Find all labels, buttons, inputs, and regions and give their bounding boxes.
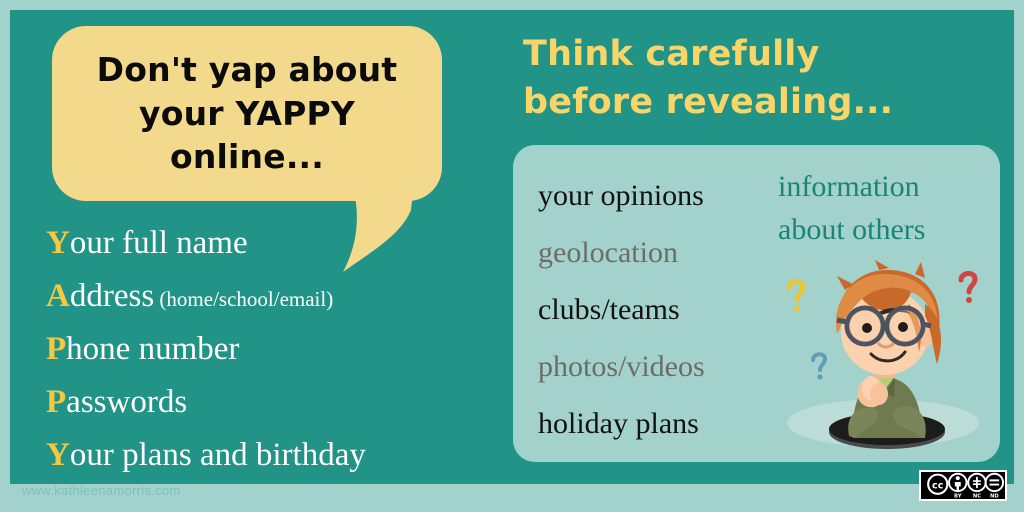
- acrostic-initial: Y: [46, 437, 70, 473]
- panel-side-note: information about others: [778, 165, 993, 251]
- right-heading-line-1: Think carefully: [523, 30, 993, 78]
- acrostic-initial: P: [46, 384, 66, 420]
- thinking-boy-in-hole-illustration: [775, 260, 990, 455]
- panel-side-note-line-2: about others: [778, 208, 993, 251]
- panel-list-item: holiday plans: [538, 395, 788, 452]
- acrostic-initial: A: [46, 278, 70, 314]
- acrostic-initial: P: [46, 331, 66, 367]
- panel-list-item: clubs/teams: [538, 281, 788, 338]
- acrostic-text: our plans and birthday: [70, 437, 366, 473]
- panel-list-item: your opinions: [538, 167, 788, 224]
- panel-item-list: your opinions geolocation clubs/teams ph…: [538, 167, 788, 452]
- speech-bubble-text: Don't yap about your YAPPY online...: [52, 26, 442, 201]
- think-before-revealing-panel: your opinions geolocation clubs/teams ph…: [513, 145, 1000, 462]
- svg-text:cc: cc: [932, 481, 944, 492]
- acrostic-initial: Y: [46, 225, 70, 261]
- acrostic-item: Passwords: [46, 377, 516, 430]
- yappy-acrostic-list: Your full name Address (home/school/emai…: [46, 218, 516, 483]
- acrostic-item: Your plans and birthday: [46, 430, 516, 483]
- svg-text:BY: BY: [954, 494, 962, 500]
- svg-text:ND: ND: [990, 494, 999, 500]
- question-mark-yellow-icon: [789, 281, 803, 311]
- infographic-poster: Don't yap about your YAPPY online... You…: [0, 0, 1024, 512]
- right-heading-line-2: before revealing...: [523, 78, 993, 126]
- acrostic-text: asswords: [66, 384, 187, 420]
- acrostic-text: hone number: [66, 331, 239, 367]
- panel-side-note-line-1: information: [778, 165, 993, 208]
- panel-list-item: geolocation: [538, 224, 788, 281]
- site-url-text: www.kathleenamorris.com: [22, 483, 181, 498]
- svg-text:NC: NC: [973, 494, 981, 500]
- acrostic-item: Phone number: [46, 324, 516, 377]
- acrostic-text: our full name: [70, 225, 248, 261]
- acrostic-text: ddress: [70, 278, 154, 314]
- panel-list-item: photos/videos: [538, 338, 788, 395]
- acrostic-item: Your full name: [46, 218, 516, 271]
- acrostic-item: Address (home/school/email): [46, 271, 516, 324]
- question-mark-red-icon: [961, 273, 975, 303]
- question-mark-blue-icon: [813, 354, 825, 379]
- cc-by-nc-nd-badge[interactable]: cc BY NC ND: [919, 470, 1007, 501]
- acrostic-note: (home/school/email): [154, 287, 333, 311]
- right-heading: Think carefully before revealing...: [523, 30, 993, 127]
